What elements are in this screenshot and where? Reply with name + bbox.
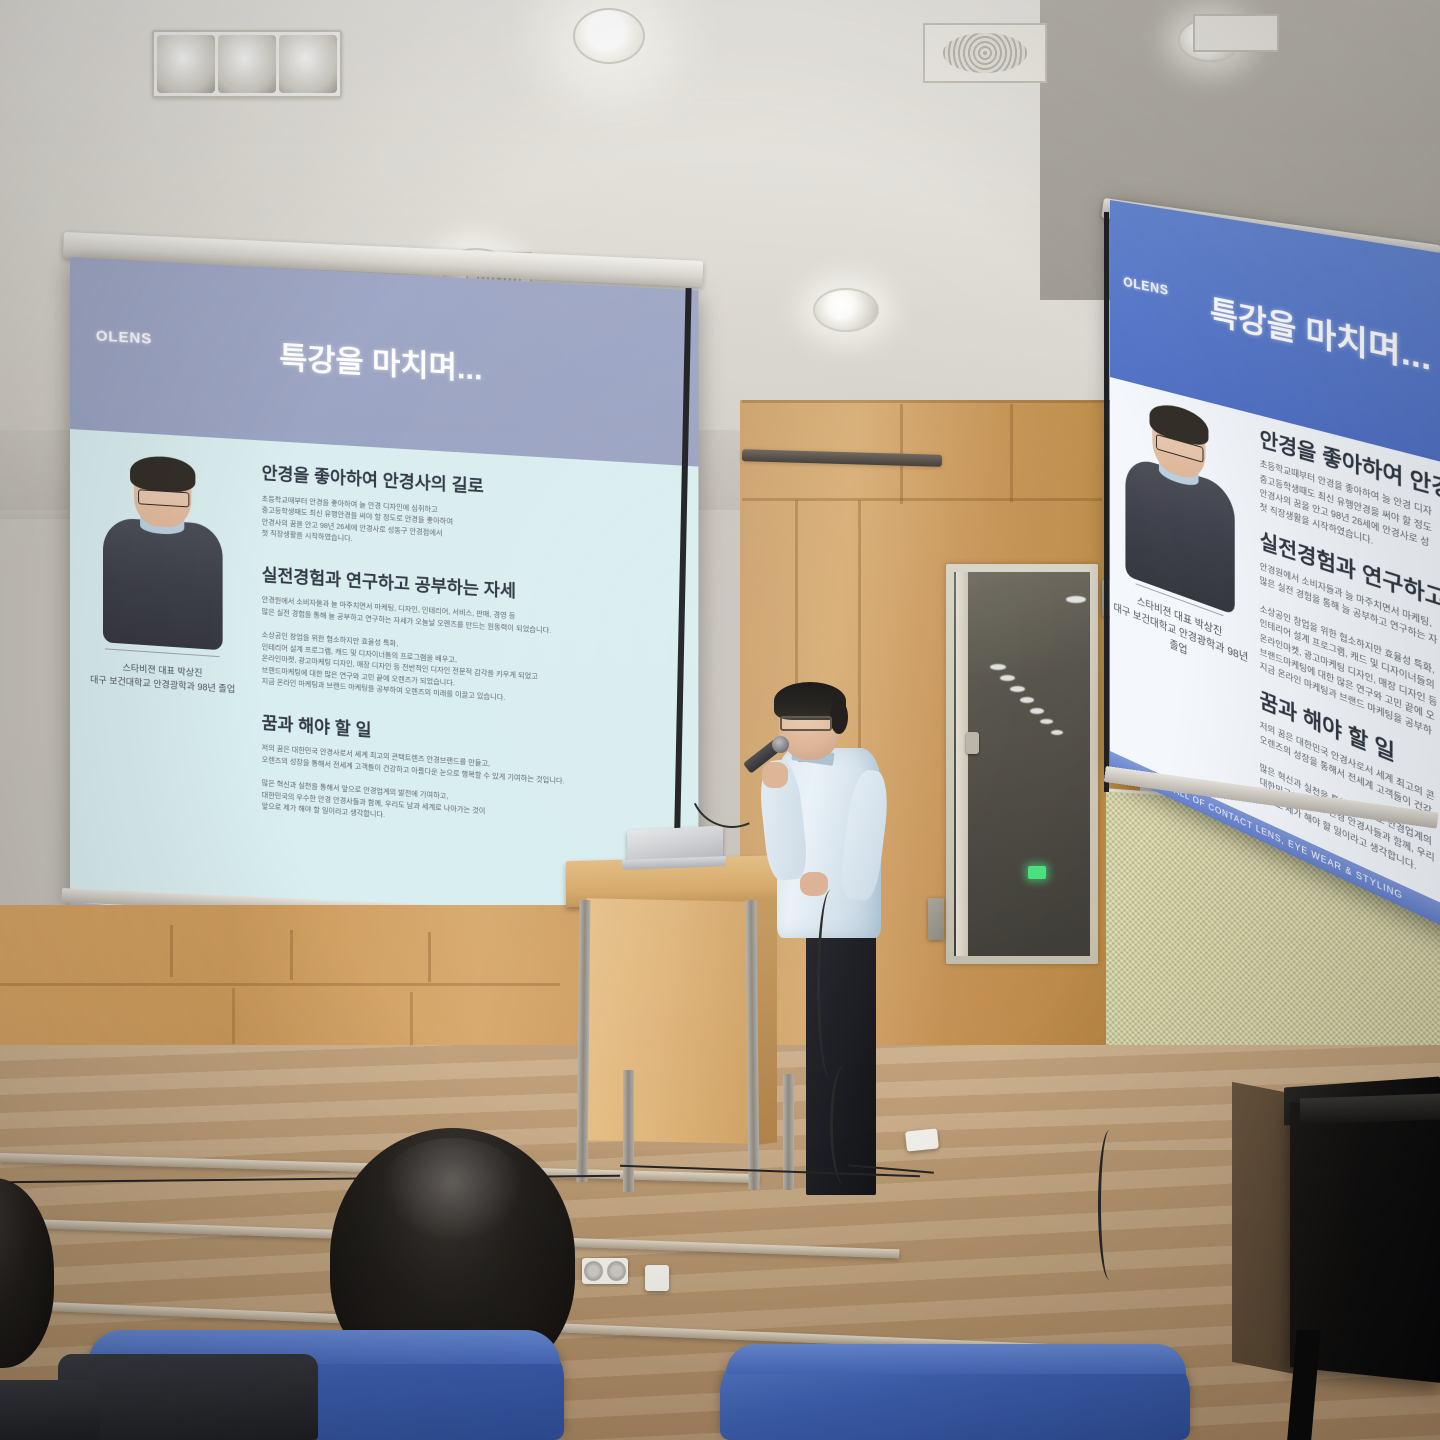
speaker-right-hand	[800, 872, 828, 896]
wall-panel-line	[428, 932, 431, 982]
portrait-hair	[130, 455, 195, 493]
piano-music-desk	[1300, 1094, 1440, 1125]
ceiling-downlight-icon	[813, 288, 879, 332]
podium-leg	[623, 1070, 634, 1192]
glass-reflection	[990, 664, 1006, 670]
slide-title: 특강을 마치며...	[70, 321, 698, 401]
audience-seat-back-left	[0, 1380, 100, 1440]
floor-plug-box	[645, 1265, 669, 1291]
door-stile	[956, 572, 968, 956]
portrait-glasses-icon	[138, 489, 189, 507]
wall-speaker-icon	[928, 898, 944, 940]
glass-reflection	[1051, 730, 1063, 735]
podium-cable-lower	[830, 1065, 859, 1185]
section-body-2: 안경원에서 소비자들과 늘 마주치면서 마케팅, 디자인, 인테리어, 서비스,…	[262, 595, 673, 716]
wall-panel-line	[232, 988, 235, 1044]
glass-reflection	[1030, 708, 1044, 714]
air-vent-icon	[923, 23, 1047, 83]
slide-photo-column-side: 스타비젼 대표 박상진 대구 보건대학교 안경광학과 98년 졸업	[1110, 377, 1252, 817]
glass-reflection	[1000, 675, 1015, 681]
wall-seam	[1010, 404, 1013, 502]
presenter-portrait-photo	[98, 455, 228, 651]
glass-reflection	[1020, 697, 1034, 703]
microphone-head-icon	[772, 736, 789, 753]
glass-reflection	[1040, 719, 1053, 724]
air-vent-icon	[1193, 14, 1279, 52]
podium-cable	[817, 890, 844, 1080]
recessed-light-fixture-icon	[152, 30, 342, 98]
audience-seat-right-top	[726, 1344, 1186, 1374]
wall-panel-line	[170, 925, 173, 977]
glass-reflection	[1010, 686, 1025, 692]
power-outlet[interactable]	[582, 1258, 628, 1284]
ceiling-downlight-icon	[573, 8, 645, 64]
portrait-torso	[103, 517, 222, 651]
caption-divider	[105, 648, 220, 657]
socket-hole	[607, 1261, 626, 1282]
floor-cable-plug	[905, 1128, 939, 1151]
portrait-caption: 스타비젼 대표 박상진 대구 보건대학교 안경광학과 98년 졸업	[70, 658, 255, 698]
glass-door[interactable]	[954, 572, 1090, 956]
audience-head-highlight	[378, 1138, 528, 1248]
speaker-hair-side	[830, 700, 848, 734]
wall-seam	[742, 400, 1140, 403]
slide-photo-column: 스타비젼 대표 박상진 대구 보건대학교 안경광학과 98년 졸업	[70, 429, 255, 917]
glass-reflection	[1066, 596, 1086, 603]
presenter-portrait-photo-side	[1121, 393, 1240, 616]
speaker-glasses-icon	[780, 716, 832, 731]
wall-panel-line	[0, 983, 560, 986]
exit-sign-icon	[1028, 866, 1046, 879]
door-handle[interactable]	[966, 732, 979, 754]
wall-panel-line	[290, 930, 293, 980]
olens-logo: OLENS	[96, 327, 152, 347]
podium-front-panel	[587, 898, 751, 1143]
piano-side-cable	[1098, 1130, 1121, 1280]
lecture-hall-photo: OLENS 특강을 마치며... 스타비젼 대표 박상진 대구 보건대학	[0, 0, 1440, 1440]
screen-side-left-edge	[1104, 212, 1109, 792]
socket-hole	[584, 1261, 603, 1282]
wall-panel-line	[410, 992, 413, 1048]
